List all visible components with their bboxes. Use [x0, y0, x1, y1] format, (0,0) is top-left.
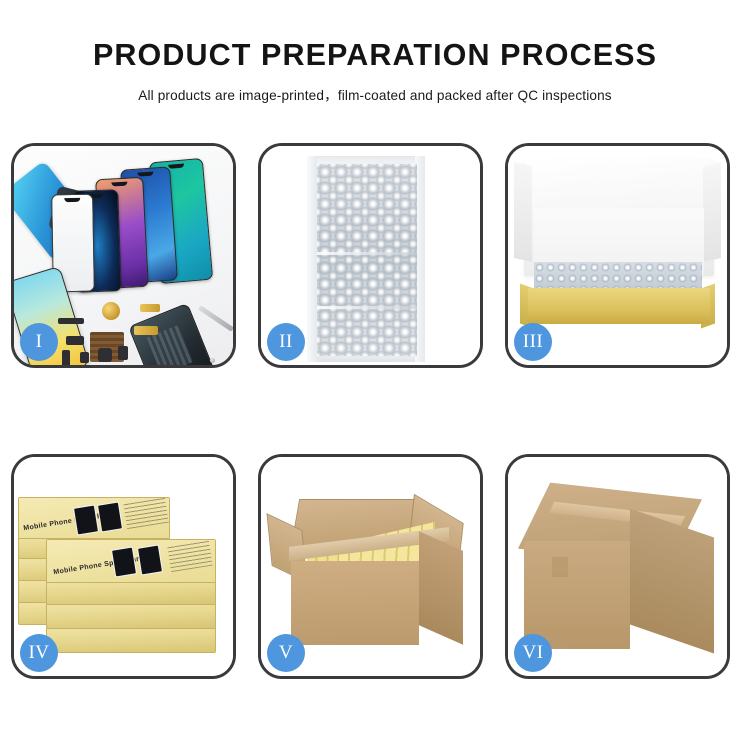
component-camera-module [80, 352, 89, 363]
component-speaker [102, 302, 120, 320]
header: PRODUCT PREPARATION PROCESS All products… [0, 0, 750, 104]
component-sim-tray [62, 350, 70, 365]
step-panel-6[interactable]: VI [505, 454, 730, 679]
page-subtitle: All products are image-printed，film-coat… [0, 73, 750, 104]
stacked-box-right-2 [46, 603, 216, 629]
bubble-wrap-pouch [307, 156, 425, 362]
inner-box-lid-right-flap [703, 162, 721, 262]
step-badge-1: I [20, 323, 58, 361]
carton-front-panel [291, 561, 419, 645]
inner-box-front-panel [528, 288, 710, 324]
component-vibrator [98, 348, 112, 362]
stacked-box-labelled-top: Mobile Phone Spare Parts [18, 497, 170, 539]
component-flex-cable-a [140, 304, 160, 312]
step-badge-6: VI [514, 634, 552, 672]
component-connector [66, 336, 84, 345]
step-panel-2[interactable]: II [258, 143, 483, 368]
tape-tab-lower [552, 633, 568, 649]
box-stack: Mobile Phone Spare Parts Mobile Phone Sp… [16, 481, 233, 661]
process-steps-grid: I II [11, 143, 745, 679]
screw-a [210, 358, 215, 363]
inner-box-lid-left-flap [514, 162, 532, 262]
step-badge-3: III [514, 323, 552, 361]
step-badge-2: II [267, 323, 305, 361]
tape-tab-upper [552, 557, 568, 577]
carton-side-right [419, 531, 463, 645]
step-panel-3[interactable]: III [505, 143, 730, 368]
step-panel-5[interactable]: V [258, 454, 483, 679]
box-screen-thumb-front-a [111, 546, 137, 577]
stacked-box-labelled-front: Mobile Phone Spare Parts [46, 539, 216, 583]
sealed-carton-front [524, 541, 630, 649]
stacked-box-right-1 [46, 627, 216, 653]
step-badge-5: V [267, 634, 305, 672]
step-panel-4[interactable]: Mobile Phone Spare Parts Mobile Phone Sp… [11, 454, 236, 679]
step-badge-4: IV [20, 634, 58, 672]
component-battery-tab [118, 346, 128, 360]
box-screen-thumb-top-b [97, 501, 123, 532]
box-screen-thumb-top-a [73, 504, 99, 535]
inner-box-bubble-contents [534, 262, 702, 290]
box-screen-thumb-front-b [137, 544, 163, 575]
page-title: PRODUCT PREPARATION PROCESS [0, 0, 750, 73]
component-flex-cable-b [134, 326, 158, 335]
component-earpiece [58, 318, 84, 324]
step-panel-1[interactable]: I [11, 143, 236, 368]
